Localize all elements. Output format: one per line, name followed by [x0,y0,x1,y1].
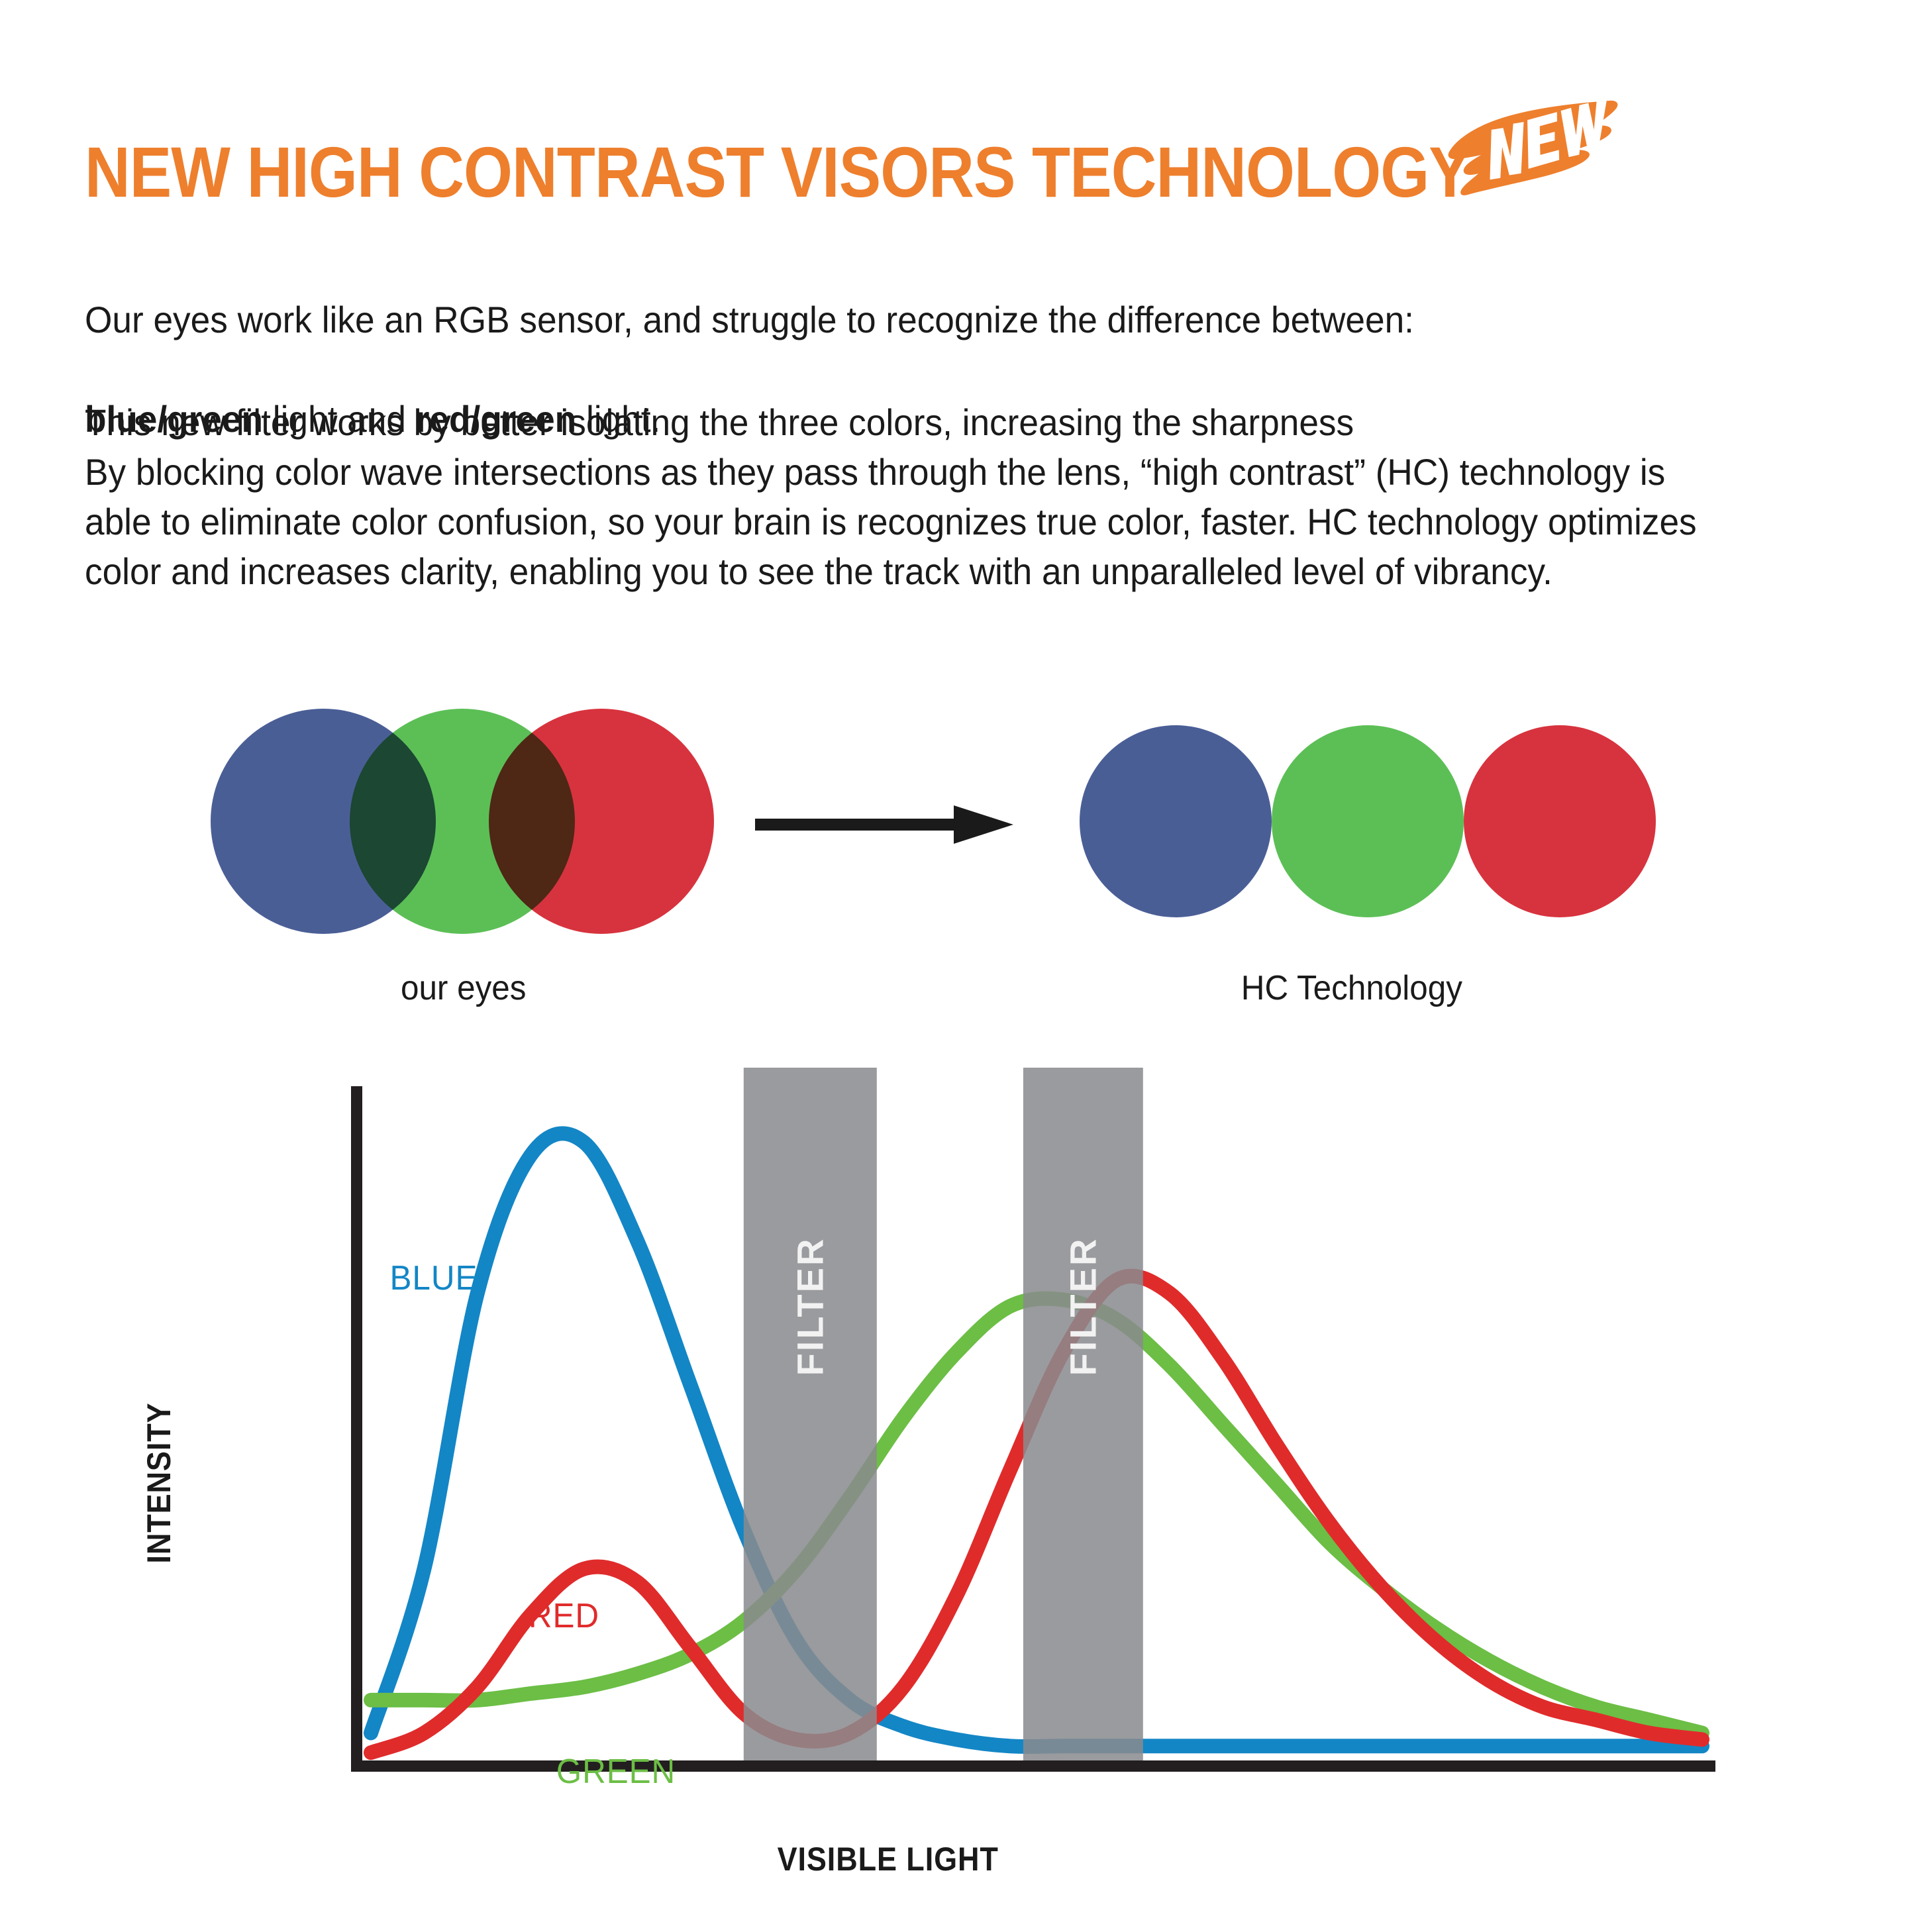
curve-label-red: RED [529,1596,599,1636]
x-axis-title: VISIBLE LIGHT [778,1840,999,1878]
paragraph-detail: This new filter works by better isolatin… [85,397,1784,596]
circle-red-separated [1464,725,1656,917]
filter-band-2 [1023,1068,1143,1772]
y-axis-line [351,1086,362,1772]
filter-band-1 [744,1068,877,1772]
hc-technology-circle-group [1080,709,1656,934]
filter-band-layer [744,1068,1143,1772]
arrow-right-icon [755,801,1013,848]
curve-label-green: GREEN [556,1752,676,1792]
new-badge [1445,98,1624,204]
diagram-label-our-eyes: our eyes [401,968,526,1008]
intro-line-1: Our eyes work like an RGB sensor, and st… [85,299,1414,340]
curve-label-blue: BLUE [389,1258,478,1298]
chart-canvas [0,1060,1932,1921]
our-eyes-circle-group [211,709,714,934]
circle-red-overlapping [489,709,714,934]
circle-green-separated [1272,725,1464,917]
new-badge-brush-icon [1445,98,1624,204]
page-title: NEW HIGH CONTRAST VISORS TECHNOLOGY [85,136,1470,208]
circle-blue-separated [1080,725,1272,917]
diagram-label-hc-technology: HC Technology [1241,968,1462,1008]
spectral-intensity-chart: INTENSITY VISIBLE LIGHT BLUE RED GREEN F… [0,1060,1932,1921]
filter-band-label-2: FILTER [1062,1207,1105,1406]
rgb-circles-diagram: our eyes HC Technology [0,676,1932,1046]
y-axis-title: INTENSITY [140,1328,178,1638]
filter-band-label-1: FILTER [789,1207,832,1406]
